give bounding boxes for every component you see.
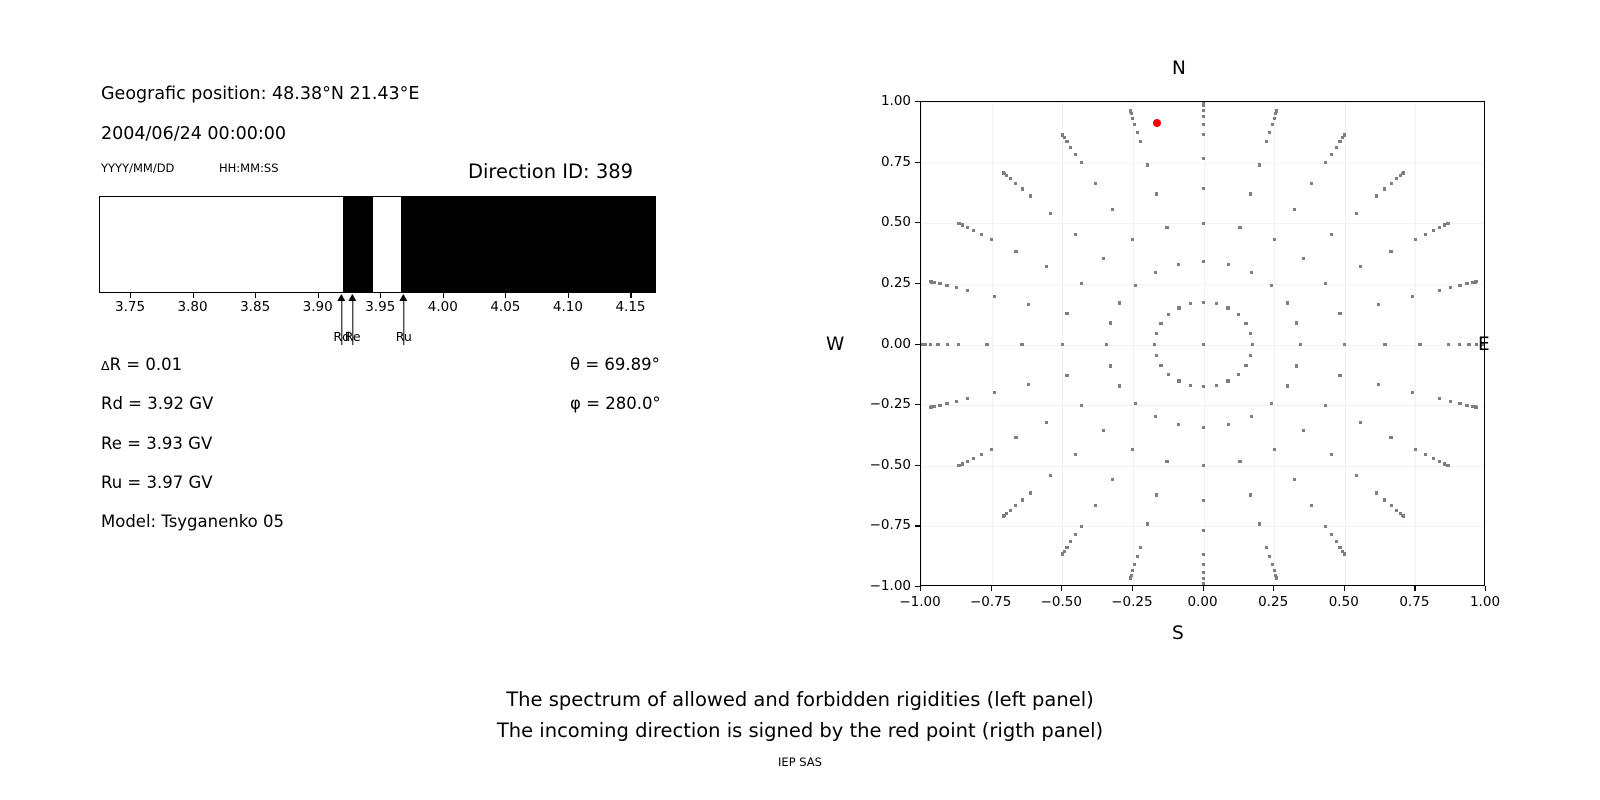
direction-point: [1389, 250, 1392, 253]
direction-point: [1134, 284, 1137, 287]
direction-point: [1202, 301, 1205, 304]
direction-point: [966, 460, 969, 463]
direction-point: [1094, 182, 1097, 185]
direction-point: [1065, 374, 1068, 377]
spectrum-axis-tick: [443, 293, 444, 298]
spectrum-axis-tick: [255, 293, 256, 298]
spectrum-axis-tick-label: 3.85: [240, 299, 270, 315]
direction-point: [957, 464, 960, 467]
y-axis-tick: [915, 101, 920, 102]
direction-point: [1324, 161, 1327, 164]
direction-point: [1118, 301, 1121, 304]
direction-point: [1265, 546, 1268, 549]
direction-point: [1109, 364, 1112, 367]
direction-point: [1310, 182, 1313, 185]
direction-point: [1402, 171, 1405, 174]
direction-point: [1389, 436, 1392, 439]
direction-point: [1111, 208, 1114, 211]
direction-point: [1202, 123, 1205, 126]
incoming-direction-point: [1153, 119, 1161, 127]
direction-point: [1458, 402, 1461, 405]
direction-point: [1202, 104, 1205, 107]
direction-point: [1014, 250, 1017, 253]
direction-point: [972, 229, 975, 232]
direction-point: [1270, 402, 1273, 405]
direction-point: [1390, 504, 1393, 507]
direction-point: [1049, 474, 1052, 477]
direction-point: [1136, 131, 1139, 134]
direction-point: [1475, 406, 1478, 409]
direction-point: [1139, 546, 1142, 549]
direction-point: [980, 233, 983, 236]
direction-point: [1418, 343, 1421, 346]
x-axis-tick-label: 1.00: [1470, 594, 1500, 610]
cardinal-label-west: W: [826, 334, 844, 355]
direction-point: [1424, 453, 1427, 456]
direction-point: [936, 343, 939, 346]
direction-point: [1438, 460, 1441, 463]
direction-point: [1237, 373, 1240, 376]
direction-point: [1359, 421, 1362, 424]
direction-point: [1226, 306, 1229, 309]
x-axis-tick: [1203, 586, 1204, 591]
direction-point: [1189, 302, 1192, 305]
parameter-left-1: Rd = 3.92 GV: [101, 394, 213, 413]
direction-point: [1270, 284, 1273, 287]
direction-map-chart: −1.00−1.00−0.75−0.75−0.50−0.50−0.25−0.25…: [920, 101, 1485, 586]
direction-point: [1268, 555, 1271, 558]
direction-point: [1002, 514, 1005, 517]
direction-point: [1343, 553, 1346, 556]
direction-point: [1338, 140, 1341, 143]
direction-point: [1014, 436, 1017, 439]
direction-point: [1330, 233, 1333, 236]
gridline-vertical: [1133, 102, 1134, 585]
direction-point: [1411, 391, 1414, 394]
gridline-horizontal: [921, 163, 1484, 164]
direction-point: [1129, 577, 1132, 580]
direction-point: [1131, 117, 1134, 120]
direction-point: [1377, 303, 1380, 306]
direction-point: [1061, 553, 1064, 556]
spectrum-axis-tick: [130, 293, 131, 298]
direction-point: [1069, 540, 1072, 543]
direction-point: [1302, 257, 1305, 260]
direction-point: [990, 448, 993, 451]
direction-point: [1324, 404, 1327, 407]
direction-point: [1202, 529, 1205, 532]
x-axis-tick-label: −0.75: [970, 594, 1011, 610]
direction-point: [1102, 257, 1105, 260]
direction-point: [933, 405, 936, 408]
direction-point: [1094, 504, 1097, 507]
direction-point: [1402, 514, 1405, 517]
x-axis-tick: [1061, 586, 1062, 591]
direction-point: [1065, 312, 1068, 315]
direction-point: [1258, 163, 1261, 166]
cardinal-label-north: N: [1172, 58, 1186, 79]
cardinal-label-east: E: [1478, 334, 1490, 355]
direction-point: [1299, 343, 1302, 346]
gridline-vertical: [992, 102, 993, 585]
direction-point: [1202, 499, 1205, 502]
direction-point: [1330, 153, 1333, 156]
parameter-right-1: φ = 280.0°: [570, 394, 661, 413]
direction-point: [972, 457, 975, 460]
direction-point: [946, 343, 949, 346]
direction-point: [1146, 522, 1149, 525]
direction-point: [1237, 313, 1240, 316]
spectrum-axis-tick: [505, 293, 506, 298]
direction-point: [1202, 343, 1205, 346]
direction-point: [1167, 373, 1170, 376]
gridline-horizontal: [921, 405, 1484, 406]
direction-point: [1165, 226, 1168, 229]
direction-point: [1383, 343, 1386, 346]
direction-point: [1167, 313, 1170, 316]
direction-point: [929, 406, 932, 409]
direction-point: [1202, 571, 1205, 574]
direction-point: [1202, 426, 1205, 429]
direction-point: [1465, 404, 1468, 407]
direction-point: [1244, 322, 1247, 325]
direction-point: [1271, 123, 1274, 126]
direction-point: [1027, 303, 1030, 306]
direction-point: [1177, 423, 1180, 426]
direction-point: [1359, 265, 1362, 268]
spectrum-x-axis: 3.753.803.853.903.954.004.054.104.15: [99, 293, 656, 307]
direction-point: [1293, 478, 1296, 481]
direction-point: [1202, 157, 1205, 160]
spectrum-axis-tick-label: 3.90: [303, 299, 333, 315]
direction-point: [920, 343, 923, 346]
forbidden-band: [343, 197, 373, 292]
direction-point: [1395, 509, 1398, 512]
direction-point: [1265, 140, 1268, 143]
direction-point: [961, 223, 964, 226]
direction-point: [1286, 301, 1289, 304]
spectrum-axis-tick: [568, 293, 569, 298]
spectrum-axis-tick: [318, 293, 319, 298]
spectrum-axis-tick-label: 4.10: [553, 299, 583, 315]
direction-point: [1447, 464, 1450, 467]
direction-point: [1424, 233, 1427, 236]
spectrum-axis-tick-label: 3.95: [365, 299, 395, 315]
direction-point: [1227, 263, 1230, 266]
direction-point: [1286, 384, 1289, 387]
direction-point: [1021, 498, 1024, 501]
direction-point: [1202, 109, 1205, 112]
direction-point: [1020, 343, 1023, 346]
direction-point: [957, 222, 960, 225]
direction-point: [945, 284, 948, 287]
direction-point: [1465, 282, 1468, 285]
direction-point: [1449, 400, 1452, 403]
direction-point: [1271, 563, 1274, 566]
direction-point: [1049, 212, 1052, 215]
direction-point: [1134, 402, 1137, 405]
direction-point: [938, 282, 941, 285]
y-axis-tick: [915, 344, 920, 345]
direction-point: [1136, 555, 1139, 558]
direction-point: [1074, 233, 1077, 236]
direction-point: [1080, 161, 1083, 164]
y-axis-tick-label: −0.75: [870, 517, 911, 533]
direction-point: [1111, 478, 1114, 481]
direction-point: [1475, 280, 1478, 283]
direction-point: [1009, 509, 1012, 512]
direction-point: [1251, 343, 1254, 346]
x-axis-tick-label: −0.25: [1111, 594, 1152, 610]
direction-map-plot-frame: [920, 101, 1485, 586]
spectrum-axis-tick: [193, 293, 194, 298]
direction-point: [1458, 284, 1461, 287]
gridline-vertical: [1415, 102, 1416, 585]
x-axis-tick: [1485, 586, 1486, 591]
spectrum-axis-tick: [630, 293, 631, 298]
y-axis-tick-label: 0.00: [881, 336, 911, 352]
direction-point: [1227, 423, 1230, 426]
spectrum-axis-tick-label: 3.75: [115, 299, 145, 315]
direction-point: [1202, 577, 1205, 580]
direction-point: [1065, 546, 1068, 549]
direction-point: [924, 343, 927, 346]
y-axis-tick: [915, 222, 920, 223]
direction-point: [993, 295, 996, 298]
direction-point: [1324, 525, 1327, 528]
parameter-left-3: Ru = 3.97 GV: [101, 473, 213, 492]
direction-point: [1155, 354, 1158, 357]
direction-point: [1355, 474, 1358, 477]
marker-label-re: Re: [345, 329, 361, 344]
x-axis-tick: [1132, 586, 1133, 591]
y-axis-tick-label: −0.50: [870, 457, 911, 473]
direction-point: [1065, 140, 1068, 143]
direction-point: [1074, 453, 1077, 456]
gridline-horizontal: [921, 284, 1484, 285]
direction-point: [1155, 332, 1158, 335]
direction-point: [955, 286, 958, 289]
direction-point: [1414, 448, 1417, 451]
direction-point: [1438, 226, 1441, 229]
direction-point: [1154, 415, 1157, 418]
spectrum-axis-tick-label: 4.15: [615, 299, 645, 315]
direction-point: [980, 453, 983, 456]
direction-point: [1009, 177, 1012, 180]
direction-point: [1273, 569, 1276, 572]
direction-point: [957, 343, 960, 346]
direction-point: [1002, 171, 1005, 174]
direction-point: [1330, 453, 1333, 456]
parameter-left-4: Model: Tsyganenko 05: [101, 512, 284, 531]
direction-point: [929, 343, 932, 346]
x-axis-tick-label: 0.00: [1187, 594, 1217, 610]
direction-point: [1249, 192, 1252, 195]
direction-point: [1202, 222, 1205, 225]
direction-point: [1177, 306, 1180, 309]
direction-point: [933, 281, 936, 284]
spectrum-axis-tick: [380, 293, 381, 298]
y-axis-tick-label: 0.25: [881, 275, 911, 291]
direction-point: [1118, 384, 1121, 387]
direction-point: [1447, 222, 1450, 225]
x-axis-tick: [991, 586, 992, 591]
x-axis-tick: [1414, 586, 1415, 591]
direction-point: [1202, 187, 1205, 190]
direction-point: [1074, 533, 1077, 536]
caption-line-2: The incoming direction is signed by the …: [0, 719, 1600, 742]
direction-point: [1069, 146, 1072, 149]
direction-point: [1390, 182, 1393, 185]
direction-point: [1250, 415, 1253, 418]
direction-point: [1105, 343, 1108, 346]
direction-point: [1061, 343, 1064, 346]
direction-point: [1215, 302, 1218, 305]
spectrum-plot-frame: [99, 196, 656, 293]
direction-point: [1338, 312, 1341, 315]
direction-point: [1080, 282, 1083, 285]
direction-point: [1021, 187, 1024, 190]
y-axis-tick-label: −0.25: [870, 396, 911, 412]
direction-point: [1295, 321, 1298, 324]
direction-point: [1275, 109, 1278, 112]
y-axis-tick: [915, 404, 920, 405]
geographic-position-text: Geografic position: 48.38°N 21.43°E: [101, 84, 419, 104]
direction-point: [938, 404, 941, 407]
direction-point: [1411, 295, 1414, 298]
direction-point: [990, 238, 993, 241]
x-axis-tick: [920, 586, 921, 591]
direction-point: [1014, 182, 1017, 185]
direction-point: [1273, 117, 1276, 120]
x-axis-tick-label: −1.00: [899, 594, 940, 610]
direction-point: [1338, 374, 1341, 377]
direction-point: [1029, 491, 1032, 494]
direction-point: [1131, 569, 1134, 572]
y-axis-tick: [915, 465, 920, 466]
direction-point: [1165, 460, 1168, 463]
direction-point: [1273, 238, 1276, 241]
direction-point: [1189, 384, 1192, 387]
y-axis-tick-label: 0.75: [881, 154, 911, 170]
gridline-vertical: [1274, 102, 1275, 585]
direction-point: [1273, 448, 1276, 451]
direction-point: [1029, 194, 1032, 197]
direction-point: [1330, 533, 1333, 536]
direction-point: [993, 391, 996, 394]
x-axis-tick: [1344, 586, 1345, 591]
direction-point: [1133, 123, 1136, 126]
direction-point: [929, 280, 932, 283]
direction-point: [1202, 553, 1205, 556]
direction-point: [1202, 115, 1205, 118]
direction-point: [1458, 343, 1461, 346]
spectrum-axis-tick-label: 3.80: [178, 299, 208, 315]
cardinal-label-south: S: [1172, 623, 1184, 644]
y-axis-tick: [915, 162, 920, 163]
direction-point: [1302, 429, 1305, 432]
caption-line-1: The spectrum of allowed and forbidden ri…: [0, 688, 1600, 711]
direction-point: [1395, 177, 1398, 180]
direction-point: [1293, 208, 1296, 211]
delta-symbol: Δ: [101, 358, 110, 373]
x-axis-tick-label: −0.50: [1041, 594, 1082, 610]
direction-point: [1338, 546, 1341, 549]
direction-point: [1275, 577, 1278, 580]
direction-point: [1074, 153, 1077, 156]
direction-point: [1432, 457, 1435, 460]
direction-point: [1202, 464, 1205, 467]
y-axis-tick-label: 0.50: [881, 214, 911, 230]
gridline-horizontal: [921, 526, 1484, 527]
datetime-text: 2004/06/24 00:00:00: [101, 124, 286, 144]
y-axis-tick-label: 1.00: [881, 93, 911, 109]
direction-id-text: Direction ID: 389: [468, 160, 633, 183]
direction-point: [1375, 194, 1378, 197]
direction-point: [1159, 364, 1162, 367]
direction-point: [1027, 383, 1030, 386]
direction-point: [1155, 493, 1158, 496]
direction-point: [1310, 504, 1313, 507]
parameter-right-0: θ = 69.89°: [570, 355, 660, 374]
direction-point: [1061, 133, 1064, 136]
direction-point: [1238, 226, 1241, 229]
x-axis-tick-label: 0.50: [1329, 594, 1359, 610]
direction-point: [1449, 286, 1452, 289]
direction-point: [1438, 397, 1441, 400]
direction-point: [1202, 133, 1205, 136]
direction-point: [1355, 212, 1358, 215]
direction-point: [1202, 260, 1205, 263]
x-axis-tick-label: 0.25: [1258, 594, 1288, 610]
direction-point: [1343, 133, 1346, 136]
direction-point: [945, 402, 948, 405]
direction-point: [1102, 429, 1105, 432]
parameter-left-2: Re = 3.93 GV: [101, 434, 212, 453]
direction-point: [961, 462, 964, 465]
direction-point: [1250, 271, 1253, 274]
direction-point: [1258, 522, 1261, 525]
y-axis-tick: [915, 283, 920, 284]
direction-point: [1295, 364, 1298, 367]
direction-point: [1139, 140, 1142, 143]
x-axis-tick: [1273, 586, 1274, 591]
direction-point: [1249, 493, 1252, 496]
x-axis-tick-label: 0.75: [1399, 594, 1429, 610]
y-axis-tick-label: −1.00: [870, 578, 911, 594]
direction-point: [1447, 343, 1450, 346]
direction-point: [985, 343, 988, 346]
direction-point: [1238, 460, 1241, 463]
direction-point: [1335, 540, 1338, 543]
direction-point: [1432, 229, 1435, 232]
marker-label-ru: Ru: [396, 329, 412, 344]
direction-point: [1202, 563, 1205, 566]
direction-point: [966, 289, 969, 292]
direction-point: [1045, 421, 1048, 424]
direction-point: [966, 397, 969, 400]
direction-point: [1177, 379, 1180, 382]
direction-point: [1467, 343, 1470, 346]
direction-point: [1375, 491, 1378, 494]
direction-point: [1131, 448, 1134, 451]
direction-point: [1153, 343, 1156, 346]
parameter-left-0: ΔR = 0.01: [101, 355, 182, 374]
direction-point: [1129, 109, 1132, 112]
footer-text: IEP SAS: [0, 755, 1600, 769]
direction-point: [1414, 238, 1417, 241]
direction-point: [1268, 131, 1271, 134]
